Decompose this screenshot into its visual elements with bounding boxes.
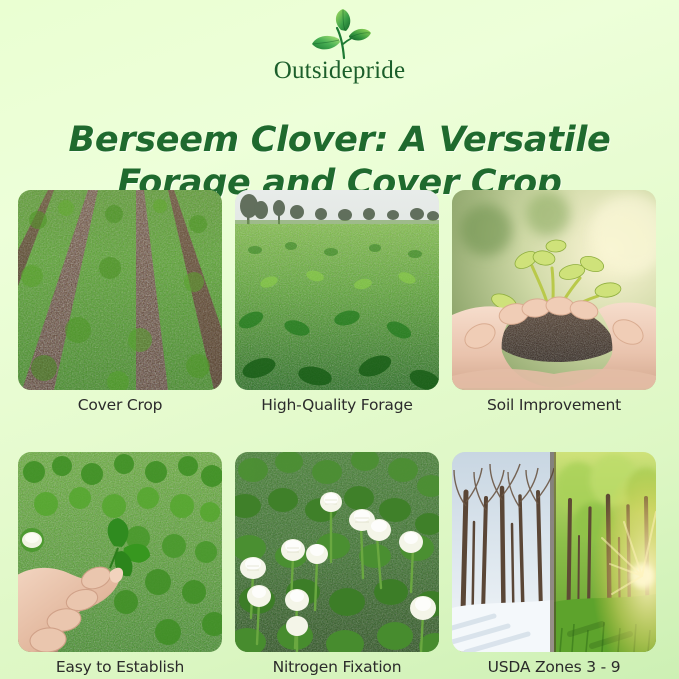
hands-soil-seedling-image — [452, 190, 656, 390]
forage-field-image — [235, 190, 439, 390]
feature-cell-nitrogen-fixation[interactable]: Nitrogen Fixation — [235, 452, 439, 676]
thumbnail-cover-crop[interactable] — [18, 190, 222, 390]
feature-cell-cover-crop[interactable]: Cover Crop — [18, 190, 222, 414]
feature-grid: Cover Crop — [18, 190, 661, 676]
feature-cell-soil-improvement[interactable]: Soil Improvement — [452, 190, 656, 414]
thumbnail-nitrogen-fixation[interactable] — [235, 452, 439, 652]
winter-summer-forest-image — [452, 452, 656, 652]
thumbnail-usda-zones[interactable] — [452, 452, 656, 652]
caption-nitrogen-fixation: Nitrogen Fixation — [235, 658, 439, 676]
feature-cell-usda-zones[interactable]: USDA Zones 3 - 9 — [452, 452, 656, 676]
cover-crop-image — [18, 190, 222, 390]
brand-name: Outsidepride — [0, 58, 679, 83]
caption-cover-crop: Cover Crop — [18, 396, 222, 414]
caption-soil-improvement: Soil Improvement — [452, 396, 656, 414]
white-clover-blossoms-image — [235, 452, 439, 652]
brand-logo: Outsidepride — [0, 8, 679, 83]
title-line-1: Berseem Clover: A Versatile — [0, 119, 679, 162]
sprout-leaves-icon — [297, 8, 383, 60]
feature-cell-easy-to-establish[interactable]: Easy to Establish — [18, 452, 222, 676]
hand-holding-clover-image — [18, 452, 222, 652]
thumbnail-soil-improvement[interactable] — [452, 190, 656, 390]
thumbnail-easy-to-establish[interactable] — [18, 452, 222, 652]
infographic-poster: Outsidepride Berseem Clover: A Versatile… — [0, 0, 679, 679]
caption-easy-to-establish: Easy to Establish — [18, 658, 222, 676]
caption-high-quality-forage: High-Quality Forage — [235, 396, 439, 414]
thumbnail-high-quality-forage[interactable] — [235, 190, 439, 390]
feature-cell-high-quality-forage[interactable]: High-Quality Forage — [235, 190, 439, 414]
caption-usda-zones: USDA Zones 3 - 9 — [452, 658, 656, 676]
